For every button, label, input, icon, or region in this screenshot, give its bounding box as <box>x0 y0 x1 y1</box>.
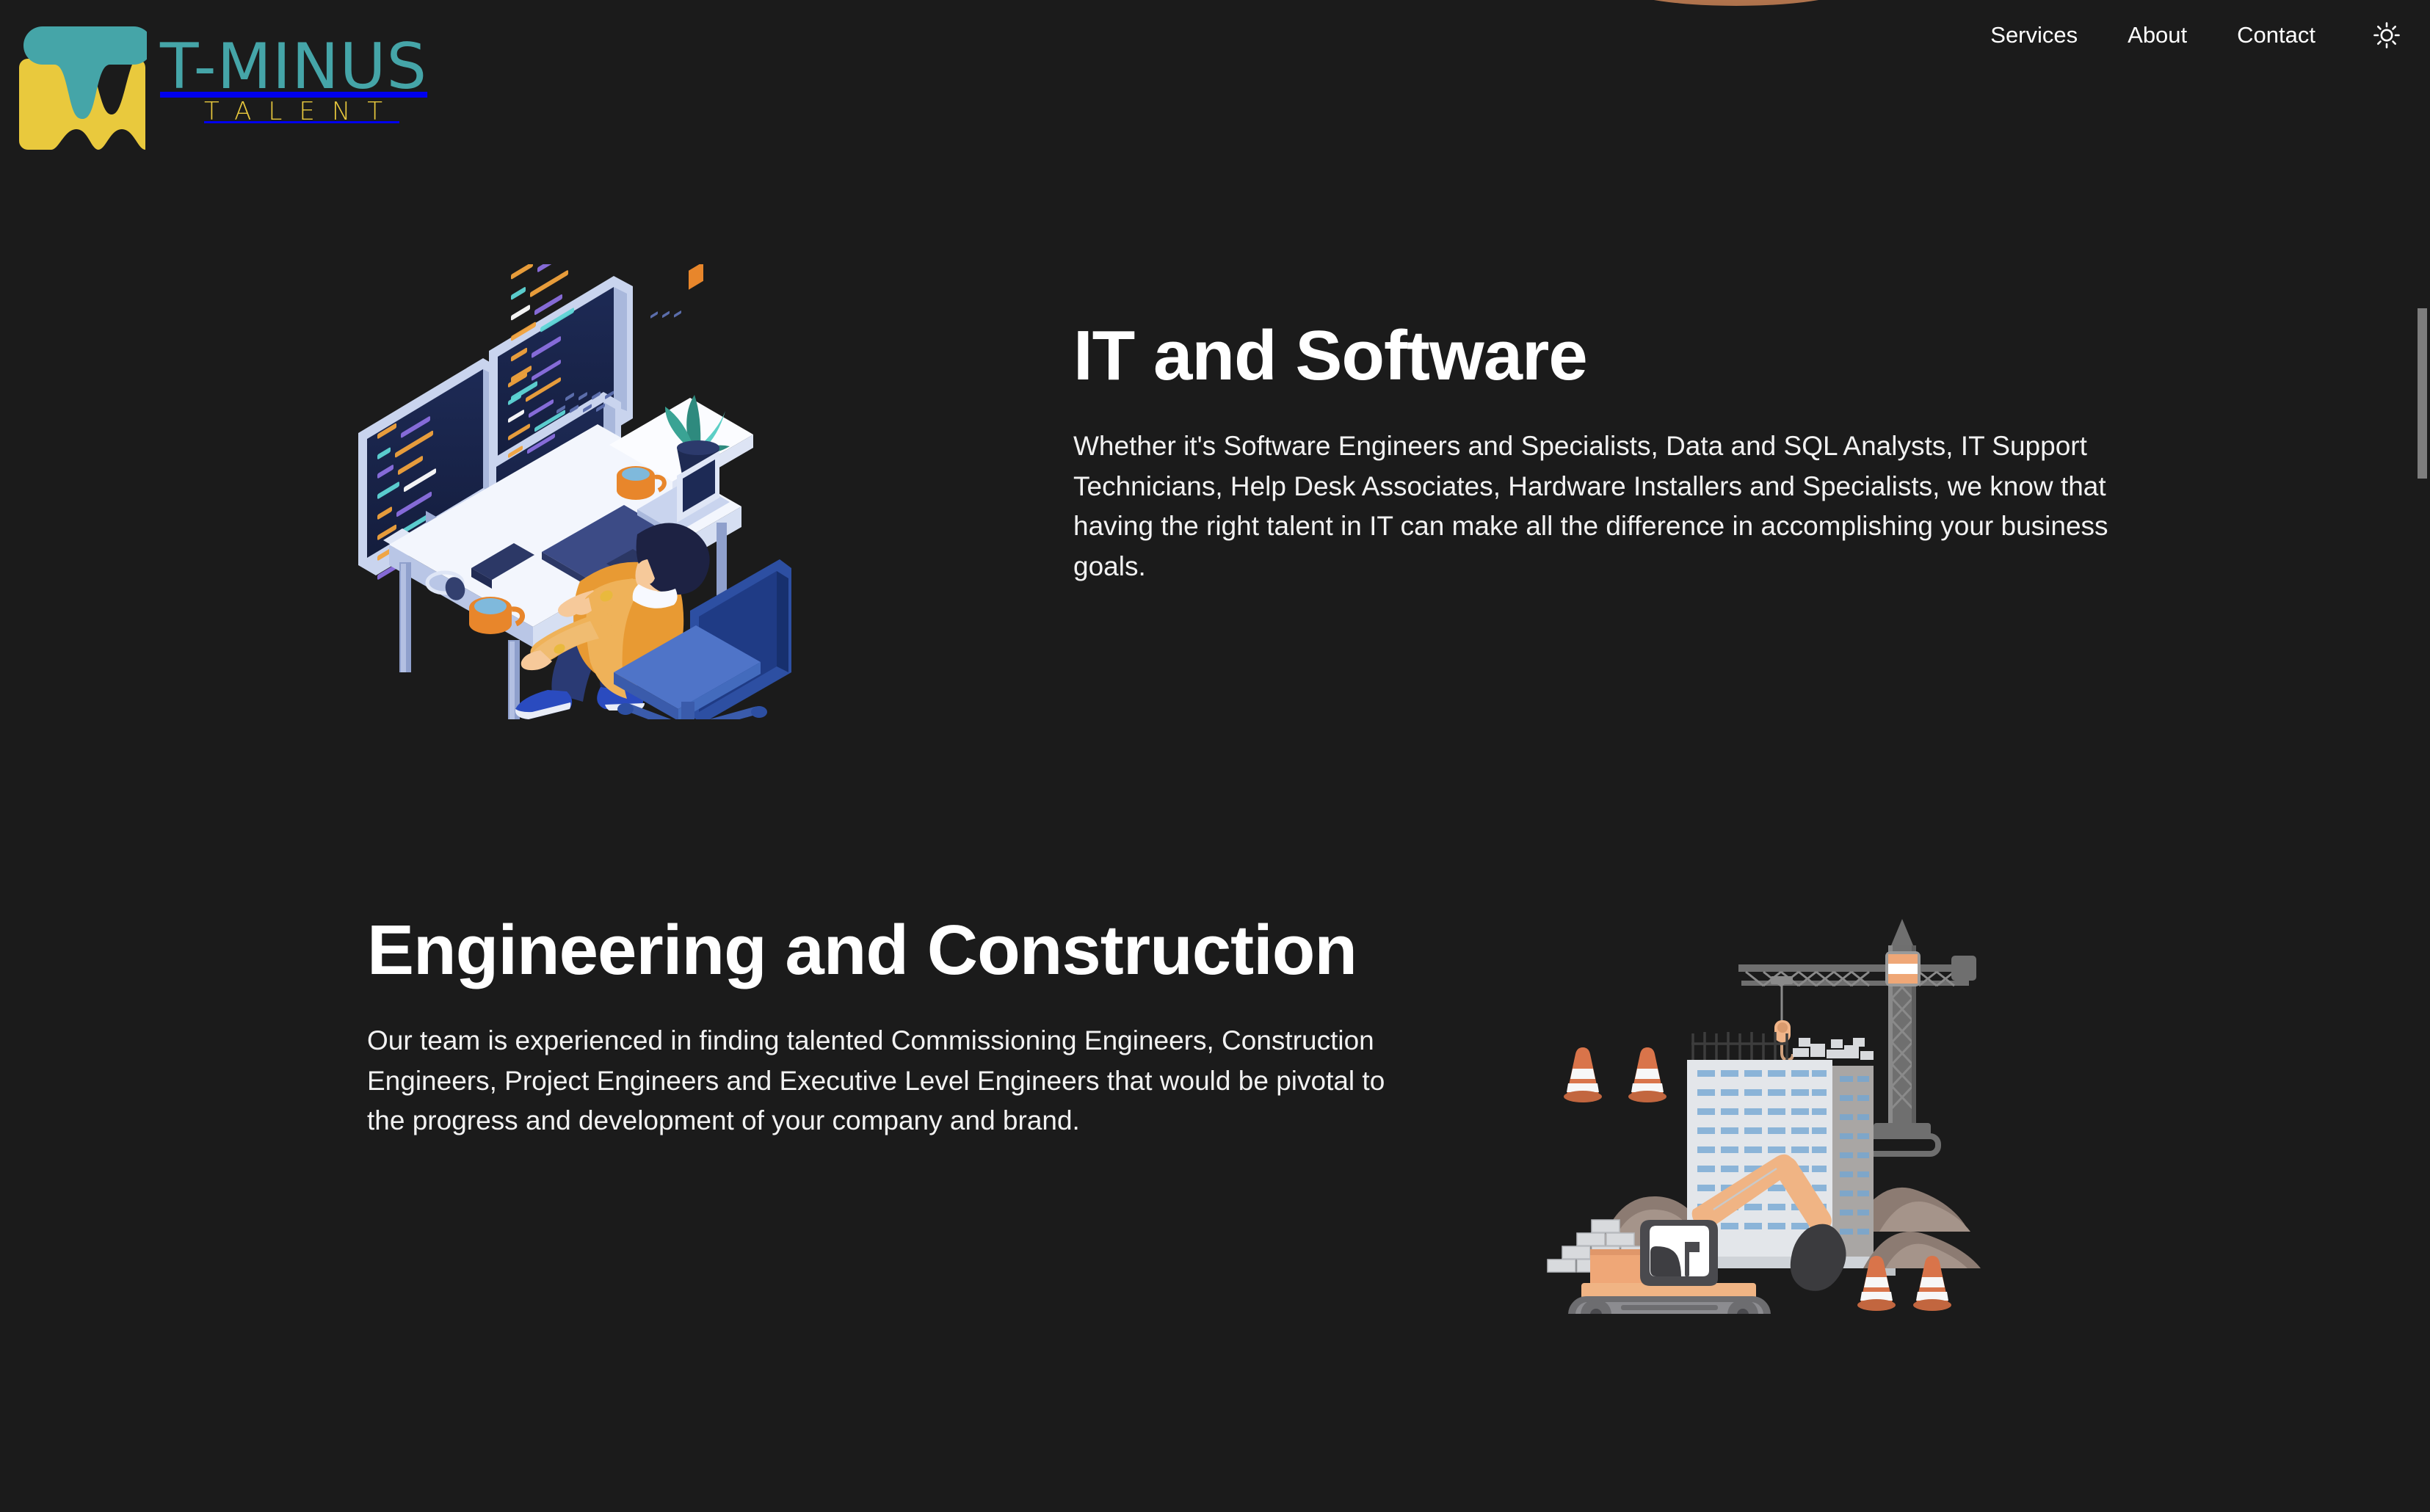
primary-navigation: Services About Contact <box>1965 18 2404 53</box>
construction-site-illustration <box>1534 903 1990 1314</box>
page-scrollbar-thumb[interactable] <box>2418 308 2427 479</box>
site-logo[interactable]: T-MINUS TALENT <box>18 13 427 150</box>
nav-item-services[interactable]: Services <box>1965 18 2103 53</box>
section-heading-it: IT and Software <box>1073 316 2116 396</box>
engineering-and-construction-copy: Engineering and Construction Our team is… <box>367 910 1395 1141</box>
logo-wordmark: T-MINUS TALENT <box>160 35 427 128</box>
sun-icon[interactable] <box>2370 18 2404 52</box>
nav-item-about[interactable]: About <box>2103 18 2212 53</box>
section-it-and-software: IT and Software Whether it's Software En… <box>0 242 2430 741</box>
section-heading-engineering: Engineering and Construction <box>367 910 1395 990</box>
site-header: T-MINUS TALENT Services About Contact <box>0 0 2430 165</box>
it-and-software-copy: IT and Software Whether it's Software En… <box>1073 316 2116 586</box>
section-body-it: Whether it's Software Engineers and Spec… <box>1073 426 2116 586</box>
nav-item-contact[interactable]: Contact <box>2212 18 2340 53</box>
logo-primary-text: T-MINUS <box>160 38 427 96</box>
page-scrollbar-track[interactable] <box>2414 0 2430 1512</box>
section-body-engineering: Our team is experienced in finding talen… <box>367 1021 1395 1141</box>
developer-at-desk-illustration <box>345 264 830 719</box>
section-engineering-and-construction: Engineering and Construction Our team is… <box>0 859 2430 1373</box>
tminus-m-monogram-icon <box>18 13 147 150</box>
